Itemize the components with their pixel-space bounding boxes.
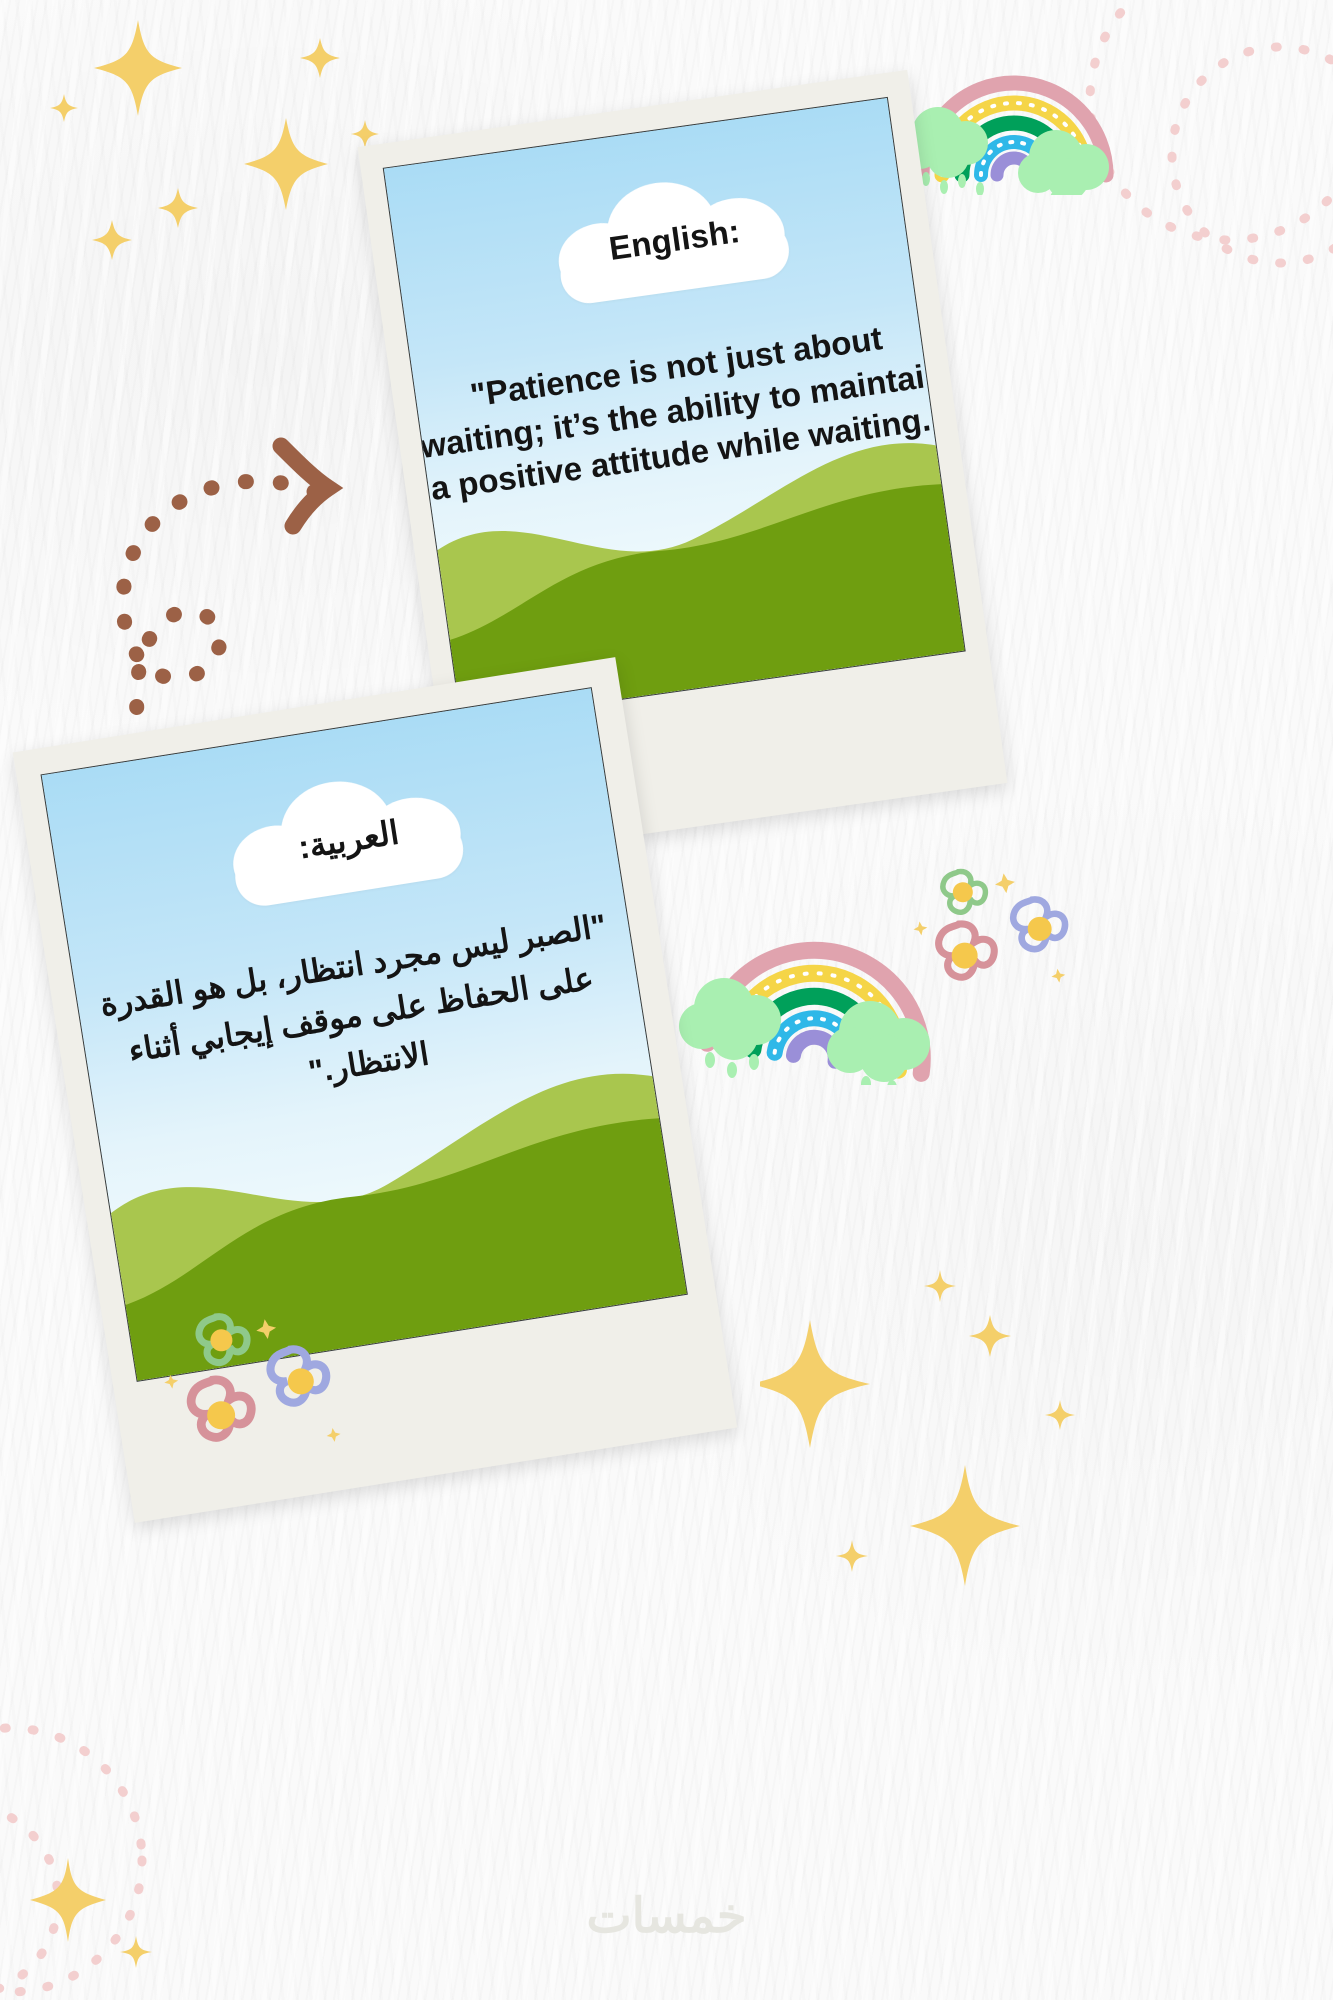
poster-canvas: English: "Patience is not just about wai… xyxy=(0,0,1333,2000)
english-card-photo: English: "Patience is not just about wai… xyxy=(383,97,966,723)
arabic-card-photo: العربية: "الصبر ليس مجرد انتظار، بل هو ا… xyxy=(41,687,688,1382)
watermark-khamsat: خمسات xyxy=(0,1888,1333,1944)
arabic-polaroid-card[interactable]: العربية: "الصبر ليس مجرد انتظار، بل هو ا… xyxy=(13,657,738,1523)
flowers-arabic-card xyxy=(141,1285,364,1474)
sparkle-cluster-bottom-right xyxy=(760,1270,1180,1670)
rainbow-middle-right-icon xyxy=(662,880,962,1085)
